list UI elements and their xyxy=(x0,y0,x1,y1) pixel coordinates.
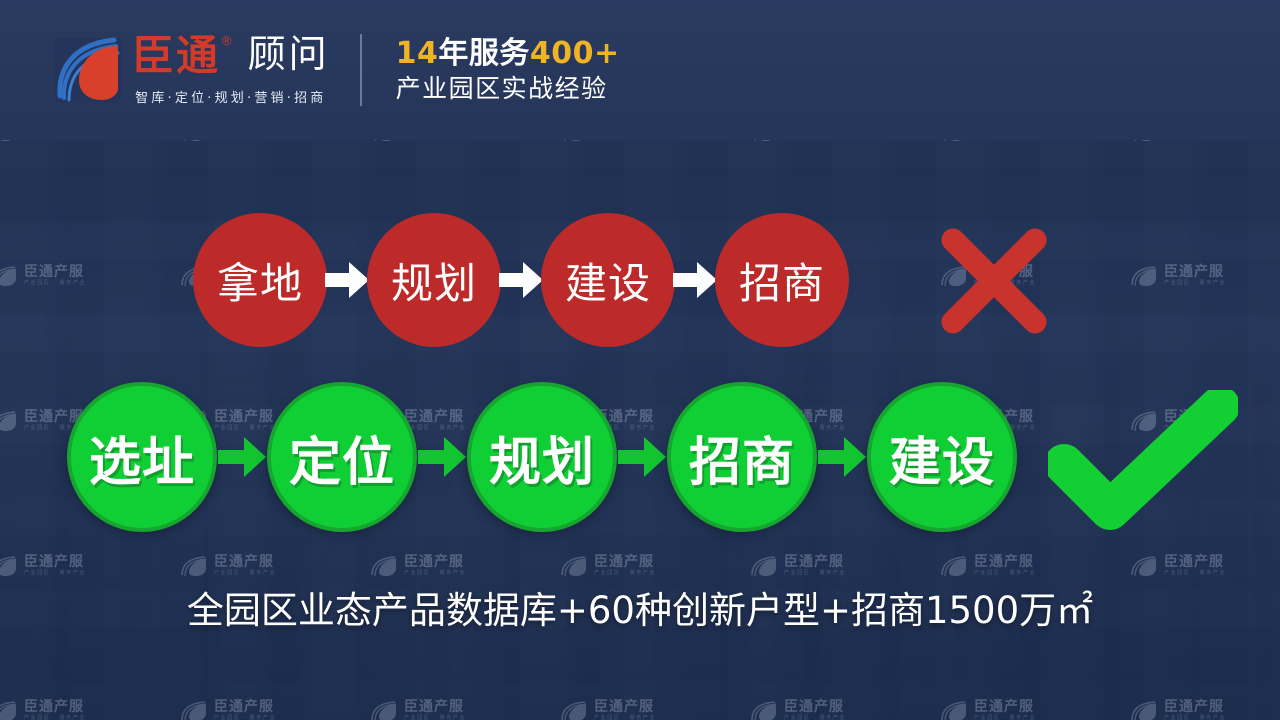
registered-trademark-icon: ® xyxy=(222,33,232,48)
chentong-step-label: 定位 xyxy=(289,420,395,495)
claim-block: 14年服务400+ 产业园区实战经验 xyxy=(396,38,620,101)
chentong-step-node[interactable]: 选址 xyxy=(67,382,217,532)
chentong-step-label: 建设 xyxy=(889,420,995,495)
slide-root: 臣通产服产业园区 · 服务产业臣通产服产业园区 · 服务产业臣通产服产业园区 ·… xyxy=(0,0,1280,720)
cross-mark-icon xyxy=(938,225,1050,337)
traditional-step-label: 招商 xyxy=(739,250,825,311)
header-bar: 臣通 ® 顾问 智库·定位·规划·营销·招商 14年服务400+ 产业园区实战经… xyxy=(0,0,1280,140)
chentong-step-node[interactable]: 规划 xyxy=(467,382,617,532)
claim-line-1: 14年服务400+ xyxy=(396,38,620,70)
claim-count: 400+ xyxy=(530,36,620,71)
arrow-right-icon xyxy=(415,433,469,481)
arrow-right-icon xyxy=(215,433,269,481)
traditional-step-node[interactable]: 拿地 xyxy=(193,213,327,347)
chentong-step-node[interactable]: 建设 xyxy=(867,382,1017,532)
traditional-step-label: 规划 xyxy=(391,250,477,311)
brand-name-row: 臣通 ® 顾问 xyxy=(132,35,330,77)
chentong-step-label: 规划 xyxy=(489,420,595,495)
check-mark-icon xyxy=(1048,390,1238,540)
chentong-step-label: 招商 xyxy=(689,420,795,495)
brand-text: 臣通 ® 顾问 智库·定位·规划·营销·招商 xyxy=(132,35,330,106)
brand-suffix: 顾问 xyxy=(248,35,330,73)
arrow-right-icon xyxy=(815,433,869,481)
chentong-step-label: 选址 xyxy=(89,420,195,495)
chentong-step-node[interactable]: 招商 xyxy=(667,382,817,532)
chentong-leaf-logo-icon xyxy=(52,34,124,106)
traditional-step-node[interactable]: 建设 xyxy=(541,213,675,347)
header-divider xyxy=(360,34,362,106)
caption-text: 全园区业态产品数据库+60种创新户型+招商1500万㎡ xyxy=(0,580,1280,634)
chentong-step-node[interactable]: 定位 xyxy=(267,382,417,532)
traditional-step-node[interactable]: 招商 xyxy=(715,213,849,347)
chentong-process-flow: 选址定位规划招商建设 xyxy=(67,382,1017,532)
header-content: 臣通 ® 顾问 智库·定位·规划·营销·招商 14年服务400+ 产业园区实战经… xyxy=(0,34,620,106)
brand-name: 臣通 xyxy=(132,35,220,77)
claim-years: 14 xyxy=(396,36,439,71)
claim-line-2: 产业园区实战经验 xyxy=(396,75,620,102)
brand-tagline: 智库·定位·规划·营销·招商 xyxy=(132,87,330,106)
claim-service-label: 年服务 xyxy=(438,36,530,71)
arrow-right-icon xyxy=(671,258,719,302)
traditional-step-node[interactable]: 规划 xyxy=(367,213,501,347)
traditional-step-label: 拿地 xyxy=(217,250,303,311)
arrow-right-icon xyxy=(323,258,371,302)
arrow-right-icon xyxy=(615,433,669,481)
traditional-process-flow: 拿地规划建设招商 xyxy=(193,213,849,347)
arrow-right-icon xyxy=(497,258,545,302)
traditional-step-label: 建设 xyxy=(565,250,651,311)
